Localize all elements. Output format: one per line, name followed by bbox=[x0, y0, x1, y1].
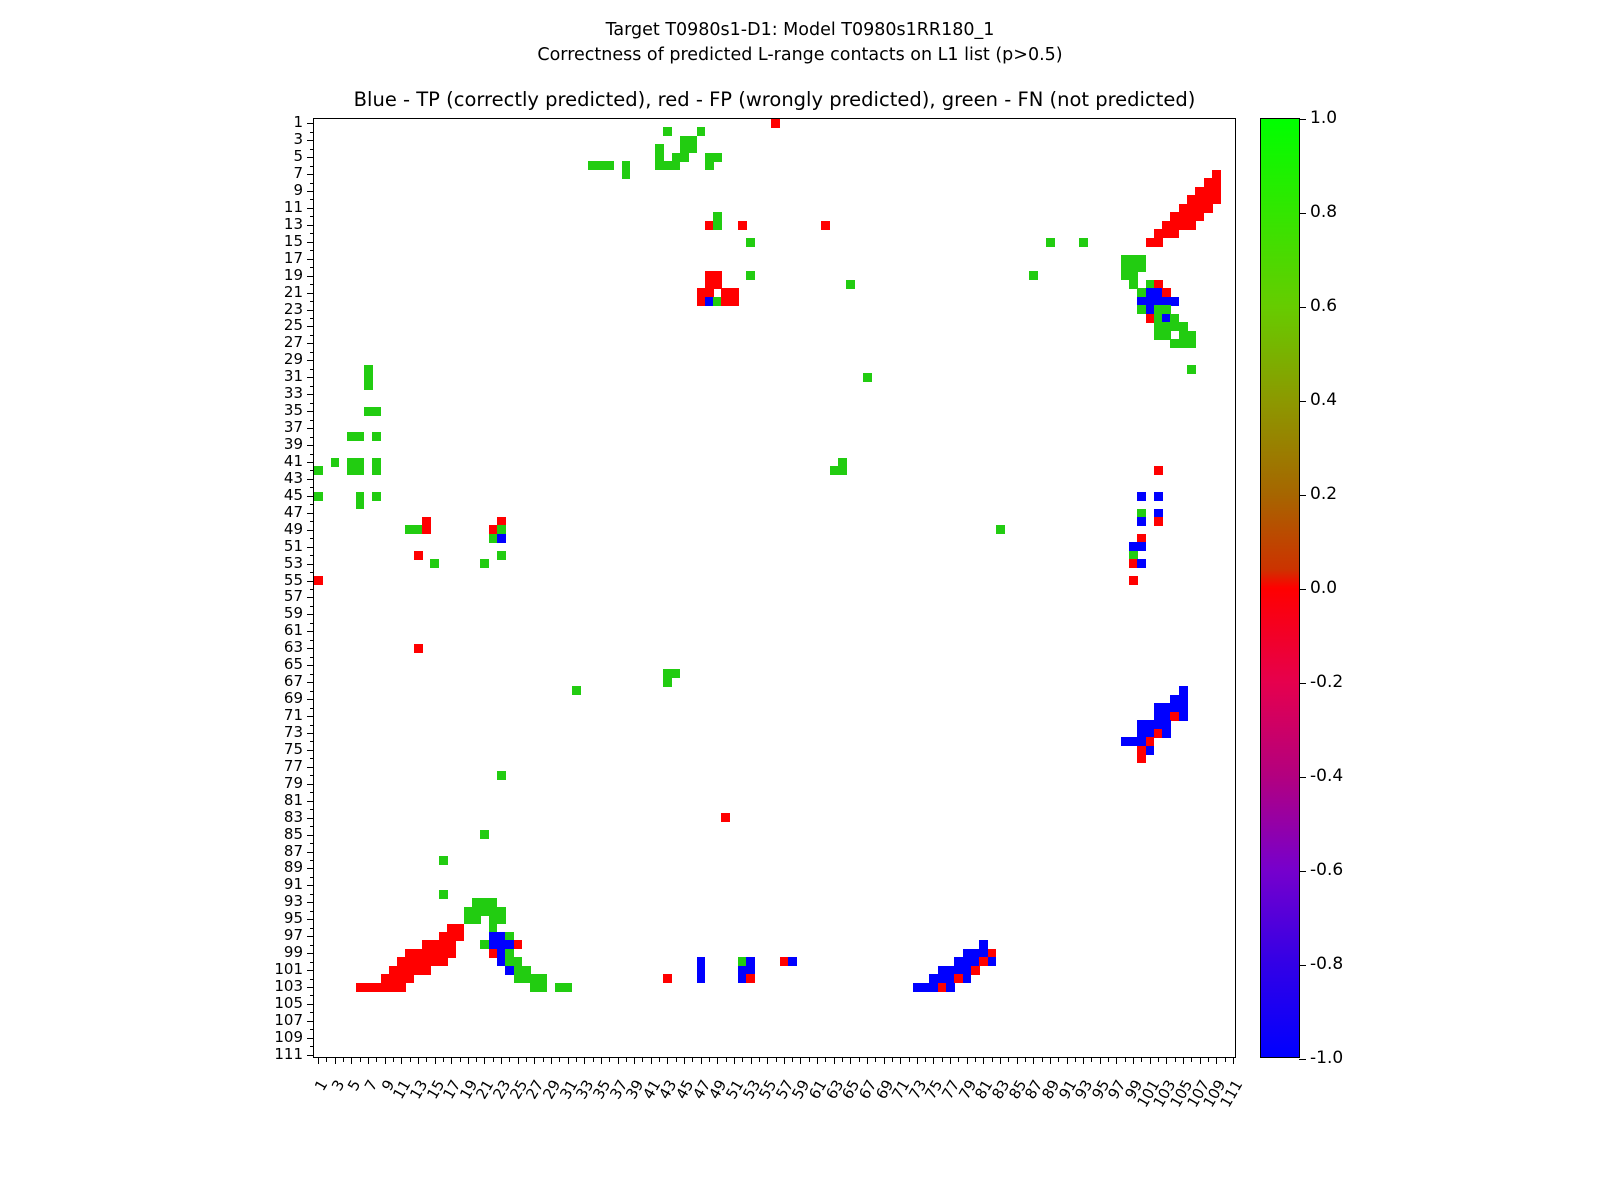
x-tick bbox=[1233, 1057, 1234, 1064]
x-tick bbox=[909, 1057, 910, 1062]
x-tick bbox=[859, 1057, 860, 1062]
x-tick bbox=[518, 1057, 519, 1064]
contact-cell bbox=[1137, 559, 1146, 568]
x-tick bbox=[1017, 1057, 1018, 1064]
x-tick bbox=[1133, 1057, 1134, 1064]
contact-cell bbox=[497, 771, 506, 780]
y-tick bbox=[307, 242, 314, 243]
y-tick bbox=[310, 132, 315, 133]
contact-cell bbox=[356, 466, 365, 475]
contact-cell bbox=[1154, 466, 1163, 475]
y-tick-label: 35 bbox=[235, 403, 303, 418]
y-tick bbox=[307, 547, 314, 548]
x-tick bbox=[642, 1057, 643, 1062]
contact-cell bbox=[439, 957, 448, 966]
contact-cell bbox=[480, 559, 489, 568]
y-tick bbox=[310, 674, 315, 675]
y-tick-label: 5 bbox=[235, 149, 303, 164]
contact-cell bbox=[455, 932, 464, 941]
x-tick bbox=[393, 1057, 394, 1062]
y-tick bbox=[307, 919, 314, 920]
contact-cell bbox=[422, 525, 431, 534]
colorbar-tick-label: 0.6 bbox=[1310, 298, 1337, 315]
contact-cell bbox=[430, 559, 439, 568]
y-tick-label: 15 bbox=[235, 234, 303, 249]
x-tick bbox=[867, 1057, 868, 1064]
contact-cell bbox=[497, 534, 506, 543]
colorbar-tick-label: 0.8 bbox=[1310, 204, 1337, 221]
y-tick bbox=[307, 852, 314, 853]
contact-cell bbox=[539, 983, 548, 992]
y-tick-label: 23 bbox=[235, 302, 303, 317]
x-tick bbox=[975, 1057, 976, 1062]
y-tick-label: 93 bbox=[235, 894, 303, 909]
x-tick bbox=[526, 1057, 527, 1062]
contact-cell bbox=[497, 915, 506, 924]
x-tick bbox=[1050, 1057, 1051, 1064]
y-tick bbox=[310, 352, 315, 353]
x-tick bbox=[701, 1057, 702, 1064]
x-tick bbox=[784, 1057, 785, 1064]
y-tick bbox=[307, 767, 314, 768]
y-tick bbox=[307, 513, 314, 514]
x-tick bbox=[584, 1057, 585, 1064]
contact-cell bbox=[697, 127, 706, 136]
contact-cell bbox=[1154, 492, 1163, 501]
x-tick bbox=[942, 1057, 943, 1062]
y-tick bbox=[307, 479, 314, 480]
x-tick bbox=[318, 1057, 319, 1064]
y-tick bbox=[310, 572, 315, 573]
y-tick bbox=[307, 445, 314, 446]
contact-cell bbox=[622, 170, 631, 179]
colorbar-tick-label: -0.4 bbox=[1310, 768, 1343, 785]
colorbar-tick-label: -0.8 bbox=[1310, 956, 1343, 973]
x-tick bbox=[684, 1057, 685, 1064]
x-tick bbox=[1183, 1057, 1184, 1064]
x-tick bbox=[476, 1057, 477, 1062]
y-tick bbox=[307, 225, 314, 226]
colorbar-tick bbox=[1299, 307, 1306, 308]
x-tick bbox=[884, 1057, 885, 1064]
x-tick bbox=[792, 1057, 793, 1062]
y-tick bbox=[310, 403, 315, 404]
x-tick bbox=[834, 1057, 835, 1064]
x-tick bbox=[451, 1057, 452, 1064]
y-tick-label: 41 bbox=[235, 454, 303, 469]
y-tick bbox=[307, 631, 314, 632]
contact-cell bbox=[572, 686, 581, 695]
x-tick bbox=[376, 1057, 377, 1062]
y-tick-label: 51 bbox=[235, 539, 303, 554]
y-tick bbox=[310, 470, 315, 471]
contact-cell bbox=[372, 432, 381, 441]
colorbar-tick bbox=[1299, 119, 1306, 120]
contact-cell bbox=[963, 974, 972, 983]
y-tick bbox=[310, 250, 315, 251]
contact-cell bbox=[497, 551, 506, 560]
y-tick bbox=[310, 860, 315, 861]
y-tick-label: 11 bbox=[235, 200, 303, 215]
x-tick bbox=[892, 1057, 893, 1062]
contact-cell bbox=[1170, 229, 1179, 238]
x-tick bbox=[933, 1057, 934, 1064]
y-tick-label: 105 bbox=[235, 996, 303, 1011]
x-tick bbox=[1042, 1057, 1043, 1062]
x-tick bbox=[1200, 1057, 1201, 1064]
contact-cell bbox=[1212, 195, 1221, 204]
x-tick bbox=[717, 1057, 718, 1064]
y-tick bbox=[307, 360, 314, 361]
y-tick-label: 87 bbox=[235, 844, 303, 859]
y-tick-label: 25 bbox=[235, 318, 303, 333]
contact-cell bbox=[863, 373, 872, 382]
x-tick bbox=[326, 1057, 327, 1062]
contact-cell bbox=[356, 432, 365, 441]
contact-cell bbox=[405, 974, 414, 983]
x-tick bbox=[609, 1057, 610, 1062]
y-tick-label: 7 bbox=[235, 166, 303, 181]
contact-cell bbox=[1137, 492, 1146, 501]
y-tick bbox=[307, 564, 314, 565]
y-tick bbox=[307, 259, 314, 260]
y-tick bbox=[310, 725, 315, 726]
contact-cell bbox=[672, 669, 681, 678]
y-tick bbox=[307, 140, 314, 141]
x-tick bbox=[410, 1057, 411, 1062]
contact-cell bbox=[1029, 271, 1038, 280]
figure-title: Target T0980s1-D1: Model T0980s1RR180_1 … bbox=[0, 18, 1600, 68]
x-tick bbox=[900, 1057, 901, 1064]
colorbar-tick-label: 0.4 bbox=[1310, 392, 1337, 409]
y-tick-label: 61 bbox=[235, 623, 303, 638]
x-tick bbox=[1208, 1057, 1209, 1062]
x-tick bbox=[1033, 1057, 1034, 1064]
contact-cell bbox=[746, 974, 755, 983]
x-tick bbox=[751, 1057, 752, 1064]
x-tick bbox=[493, 1057, 494, 1062]
contact-cell bbox=[1170, 297, 1179, 306]
contact-cell bbox=[1179, 712, 1188, 721]
y-tick bbox=[310, 454, 315, 455]
contact-cell bbox=[996, 525, 1005, 534]
y-tick bbox=[307, 123, 314, 124]
x-tick bbox=[709, 1057, 710, 1062]
contact-cell bbox=[1137, 517, 1146, 526]
x-tick bbox=[983, 1057, 984, 1064]
x-tick bbox=[1116, 1057, 1117, 1064]
y-tick bbox=[310, 945, 315, 946]
x-tick bbox=[842, 1057, 843, 1062]
colorbar-tick bbox=[1299, 1059, 1306, 1060]
colorbar-tick-label: 1.0 bbox=[1310, 110, 1337, 127]
x-tick bbox=[1158, 1057, 1159, 1062]
y-tick bbox=[310, 691, 315, 692]
y-tick bbox=[310, 640, 315, 641]
y-tick bbox=[310, 928, 315, 929]
x-tick bbox=[593, 1057, 594, 1062]
contact-cell bbox=[514, 940, 523, 949]
contact-cell bbox=[372, 407, 381, 416]
colorbar bbox=[1260, 118, 1300, 1058]
y-tick bbox=[307, 191, 314, 192]
y-tick bbox=[310, 166, 315, 167]
contact-cell bbox=[605, 161, 614, 170]
y-tick bbox=[307, 1055, 314, 1056]
y-tick bbox=[310, 809, 315, 810]
y-tick bbox=[310, 708, 315, 709]
y-tick bbox=[310, 826, 315, 827]
x-tick bbox=[351, 1057, 352, 1064]
y-tick-label: 65 bbox=[235, 657, 303, 672]
contact-cell bbox=[1137, 263, 1146, 272]
contact-cell bbox=[746, 238, 755, 247]
contact-cell bbox=[713, 153, 722, 162]
y-tick bbox=[310, 979, 315, 980]
x-tick bbox=[568, 1057, 569, 1064]
contact-cell bbox=[414, 551, 423, 560]
colorbar-tick bbox=[1299, 965, 1306, 966]
contact-cell bbox=[771, 119, 780, 128]
contact-cell bbox=[663, 678, 672, 687]
y-tick bbox=[307, 665, 314, 666]
figure-legend-text: Blue - TP (correctly predicted), red - F… bbox=[313, 88, 1236, 111]
x-tick bbox=[1091, 1057, 1092, 1062]
contact-cell bbox=[1046, 238, 1055, 247]
contact-cell bbox=[846, 280, 855, 289]
colorbar-tick bbox=[1299, 871, 1306, 872]
contact-cell bbox=[672, 161, 681, 170]
x-tick bbox=[659, 1057, 660, 1062]
y-tick-label: 75 bbox=[235, 742, 303, 757]
y-tick bbox=[307, 1038, 314, 1039]
y-tick bbox=[307, 902, 314, 903]
y-tick-label: 73 bbox=[235, 725, 303, 740]
x-tick bbox=[559, 1057, 560, 1062]
y-tick-label: 67 bbox=[235, 674, 303, 689]
contact-cell bbox=[688, 144, 697, 153]
x-tick bbox=[1000, 1057, 1001, 1064]
x-tick bbox=[601, 1057, 602, 1064]
contact-cell bbox=[663, 127, 672, 136]
y-tick bbox=[310, 623, 315, 624]
contact-cell bbox=[713, 221, 722, 230]
x-tick bbox=[1067, 1057, 1068, 1064]
y-tick-label: 1 bbox=[235, 115, 303, 130]
x-tick bbox=[1108, 1057, 1109, 1062]
y-tick-label: 49 bbox=[235, 522, 303, 537]
y-tick bbox=[307, 530, 314, 531]
x-tick bbox=[1025, 1057, 1026, 1062]
y-tick-label: 109 bbox=[235, 1030, 303, 1045]
contact-cell bbox=[372, 492, 381, 501]
y-tick bbox=[310, 589, 315, 590]
contact-cell bbox=[680, 153, 689, 162]
x-tick bbox=[1083, 1057, 1084, 1064]
x-tick bbox=[418, 1057, 419, 1064]
x-tick bbox=[1166, 1057, 1167, 1064]
y-tick-label: 77 bbox=[235, 759, 303, 774]
contact-cell bbox=[447, 949, 456, 958]
y-tick-label: 89 bbox=[235, 860, 303, 875]
y-tick bbox=[307, 394, 314, 395]
y-tick bbox=[307, 377, 314, 378]
colorbar-tick bbox=[1299, 589, 1306, 590]
y-tick bbox=[307, 614, 314, 615]
y-tick bbox=[310, 758, 315, 759]
y-tick bbox=[307, 818, 314, 819]
x-tick bbox=[1008, 1057, 1009, 1062]
colorbar-tick bbox=[1299, 683, 1306, 684]
x-tick bbox=[1100, 1057, 1101, 1064]
x-tick bbox=[551, 1057, 552, 1064]
contact-cell bbox=[439, 890, 448, 899]
y-tick-label: 13 bbox=[235, 217, 303, 232]
y-tick bbox=[307, 835, 314, 836]
contact-cell bbox=[414, 644, 423, 653]
contact-cell bbox=[697, 974, 706, 983]
y-tick bbox=[310, 962, 315, 963]
y-tick bbox=[307, 784, 314, 785]
y-tick bbox=[310, 775, 315, 776]
y-tick bbox=[310, 606, 315, 607]
y-tick bbox=[310, 437, 315, 438]
y-tick bbox=[307, 411, 314, 412]
y-tick bbox=[310, 318, 315, 319]
contact-cell bbox=[1187, 339, 1196, 348]
x-tick bbox=[667, 1057, 668, 1064]
y-tick-label: 21 bbox=[235, 285, 303, 300]
contact-cell bbox=[988, 957, 997, 966]
contact-cell bbox=[563, 983, 572, 992]
y-tick bbox=[310, 1029, 315, 1030]
x-tick bbox=[368, 1057, 369, 1064]
contact-cell bbox=[472, 915, 481, 924]
x-tick bbox=[958, 1057, 959, 1062]
contact-cell bbox=[821, 221, 830, 230]
contact-cell bbox=[1195, 212, 1204, 221]
x-tick bbox=[1225, 1057, 1226, 1062]
contact-cell bbox=[480, 830, 489, 839]
x-tick bbox=[426, 1057, 427, 1062]
x-tick bbox=[742, 1057, 743, 1062]
contact-cell bbox=[1079, 238, 1088, 247]
y-tick bbox=[307, 716, 314, 717]
y-tick-label: 103 bbox=[235, 979, 303, 994]
y-tick bbox=[310, 233, 315, 234]
y-tick bbox=[307, 648, 314, 649]
figure-root: Target T0980s1-D1: Model T0980s1RR180_1 … bbox=[0, 0, 1600, 1200]
y-tick bbox=[310, 301, 315, 302]
colorbar-tick bbox=[1299, 495, 1306, 496]
y-tick bbox=[310, 199, 315, 200]
x-tick bbox=[776, 1057, 777, 1062]
x-tick bbox=[435, 1057, 436, 1064]
contact-cell bbox=[746, 271, 755, 280]
y-tick-label: 17 bbox=[235, 251, 303, 266]
x-tick bbox=[950, 1057, 951, 1064]
y-tick bbox=[310, 995, 315, 996]
y-tick bbox=[310, 521, 315, 522]
y-tick bbox=[307, 682, 314, 683]
x-tick bbox=[360, 1057, 361, 1062]
y-tick-label: 47 bbox=[235, 505, 303, 520]
y-tick-label: 19 bbox=[235, 268, 303, 283]
x-tick bbox=[543, 1057, 544, 1062]
contact-cell bbox=[364, 382, 373, 391]
y-tick bbox=[307, 208, 314, 209]
x-tick bbox=[925, 1057, 926, 1062]
contact-cell bbox=[721, 813, 730, 822]
colorbar-tick-label: -0.2 bbox=[1310, 674, 1343, 691]
y-tick bbox=[307, 936, 314, 937]
y-tick bbox=[307, 1004, 314, 1005]
y-tick bbox=[310, 216, 315, 217]
y-tick-label: 39 bbox=[235, 437, 303, 452]
y-tick bbox=[310, 386, 315, 387]
title-line-2: Correctness of predicted L-range contact… bbox=[0, 43, 1600, 68]
x-tick bbox=[401, 1057, 402, 1064]
y-tick-label: 97 bbox=[235, 928, 303, 943]
y-tick bbox=[310, 267, 315, 268]
y-tick-label: 33 bbox=[235, 386, 303, 401]
contact-cell bbox=[1187, 221, 1196, 230]
y-tick bbox=[307, 174, 314, 175]
y-tick bbox=[310, 487, 315, 488]
y-tick bbox=[307, 953, 314, 954]
x-tick bbox=[1075, 1057, 1076, 1062]
y-tick bbox=[310, 792, 315, 793]
y-tick-label: 85 bbox=[235, 827, 303, 842]
x-tick bbox=[825, 1057, 826, 1062]
y-tick bbox=[307, 293, 314, 294]
x-tick bbox=[501, 1057, 502, 1064]
y-tick-label: 91 bbox=[235, 877, 303, 892]
x-tick bbox=[917, 1057, 918, 1064]
y-tick bbox=[310, 894, 315, 895]
y-tick bbox=[310, 369, 315, 370]
y-tick bbox=[307, 987, 314, 988]
contact-cell bbox=[1137, 754, 1146, 763]
y-tick bbox=[310, 911, 315, 912]
x-tick bbox=[734, 1057, 735, 1064]
x-tick bbox=[576, 1057, 577, 1062]
y-tick bbox=[307, 462, 314, 463]
y-tick bbox=[307, 157, 314, 158]
x-tick bbox=[335, 1057, 336, 1064]
x-tick bbox=[1216, 1057, 1217, 1064]
y-tick bbox=[307, 868, 314, 869]
contact-cell bbox=[1204, 204, 1213, 213]
y-tick bbox=[307, 970, 314, 971]
y-tick bbox=[310, 284, 315, 285]
x-tick bbox=[726, 1057, 727, 1062]
x-tick bbox=[443, 1057, 444, 1062]
contact-map-plot[interactable] bbox=[313, 118, 1236, 1058]
contact-cell bbox=[1154, 517, 1163, 526]
y-tick-label: 71 bbox=[235, 708, 303, 723]
x-tick bbox=[343, 1057, 344, 1062]
contact-map-cells bbox=[314, 119, 1235, 1057]
y-tick bbox=[310, 555, 315, 556]
x-tick bbox=[850, 1057, 851, 1064]
y-tick bbox=[307, 750, 314, 751]
contact-cell bbox=[314, 576, 323, 585]
y-tick bbox=[310, 1046, 315, 1047]
y-tick-label: 55 bbox=[235, 573, 303, 588]
contact-cell bbox=[1137, 542, 1146, 551]
x-tick bbox=[385, 1057, 386, 1064]
